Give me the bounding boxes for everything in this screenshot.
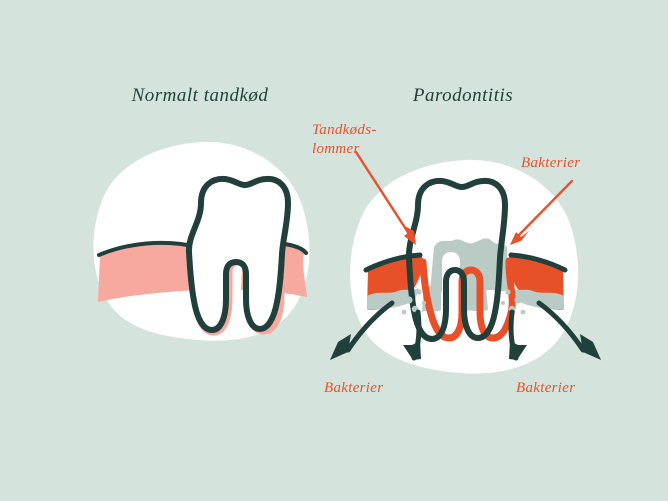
annotation-pockets-line2: lommer [312, 141, 360, 157]
panel-title-diseased: Parodontitis [412, 85, 513, 106]
bacteria-dot [524, 292, 528, 296]
bacteria-dot [416, 289, 421, 294]
bacteria-dot [505, 289, 510, 294]
bacteria-dot [501, 301, 505, 305]
annotation-pockets-line1: Tandkøds- [312, 122, 377, 138]
bacteria-dot [402, 310, 407, 315]
bacteria-dot [514, 296, 521, 303]
annotation-bakterier-bottom-right: Bakterier [516, 380, 575, 396]
annotation-bakterier-top-right: Bakterier [521, 155, 580, 171]
bacteria-dot [405, 296, 412, 303]
panel-title-healthy: Normalt tandkød [131, 85, 269, 106]
panel-healthy [93, 142, 309, 341]
bacteria-dot [521, 310, 526, 315]
annotation-bakterier-bottom-left: Bakterier [324, 380, 383, 396]
bacteria-dot [399, 292, 403, 296]
illustration-canvas: Normalt tandkød Parodontitis Tandkøds- l… [0, 0, 668, 501]
bacteria-dot [422, 301, 426, 305]
